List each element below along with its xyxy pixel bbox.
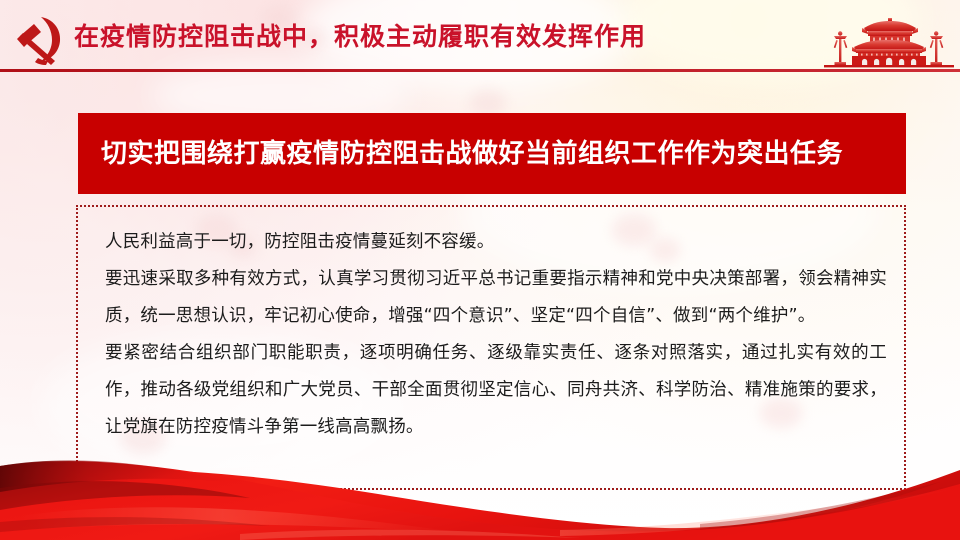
- page-title: 在疫情防控阻击战中，积极主动履职有效发挥作用: [74, 24, 646, 49]
- slide-root: 在疫情防控阻击战中，积极主动履职有效发挥作用: [0, 0, 960, 540]
- banner-title: 切实把围绕打赢疫情防控阻击战做好当前组织工作作为突出任务: [78, 141, 843, 167]
- paragraph: 人民利益高于一切，防控阻击疫情蔓延刻不容缓。: [105, 224, 887, 261]
- header-divider: [0, 69, 960, 72]
- section-banner: 切实把围绕打赢疫情防控阻击战做好当前组织工作作为突出任务: [78, 113, 906, 194]
- content-box: 人民利益高于一切，防控阻击疫情蔓延刻不容缓。 要迅速采取多种有效方式，认真学习贯…: [76, 205, 906, 490]
- content-body: 人民利益高于一切，防控阻击疫情蔓延刻不容缓。 要迅速采取多种有效方式，认真学习贯…: [105, 224, 887, 446]
- tiananmen-gate-icon: [818, 14, 960, 70]
- paragraph: 要紧密结合组织部门职能职责，逐项明确任务、逐级靠实责任、逐条对照落实，通过扎实有…: [105, 335, 887, 446]
- slide-header: 在疫情防控阻击战中，积极主动履职有效发挥作用: [0, 0, 960, 76]
- party-hammer-sickle-emblem-icon: [11, 14, 69, 68]
- paragraph: 要迅速采取多种有效方式，认真学习贯彻习近平总书记重要指示精神和党中央决策部署，领…: [105, 261, 887, 335]
